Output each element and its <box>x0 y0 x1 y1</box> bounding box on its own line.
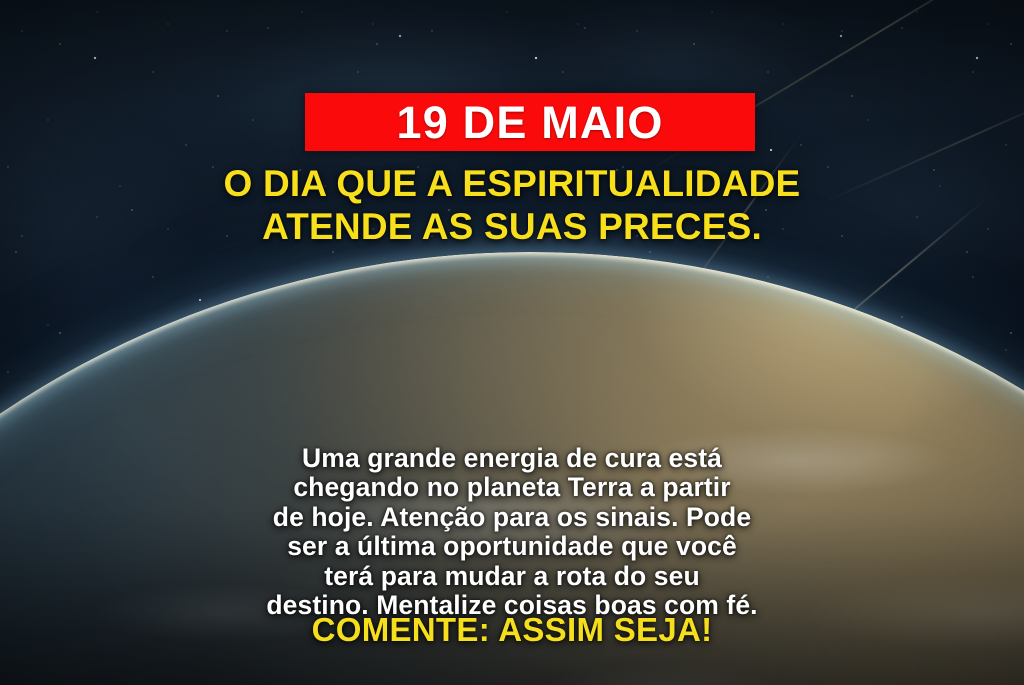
call-to-action-label: COMENTE: ASSIM SEJA! <box>0 613 1024 646</box>
body-copy-line-2: chegando no planeta Terra a partir <box>0 473 1024 502</box>
poster-image: 19 DE MAIO O DIA QUE A ESPIRITUALIDADE A… <box>0 0 1024 685</box>
headline-line-2: ATENDE AS SUAS PRECES. <box>0 206 1024 249</box>
date-banner: 19 DE MAIO <box>305 93 755 151</box>
body-copy: Uma grande energia de cura está chegando… <box>0 444 1024 620</box>
body-copy-line-5: terá para mudar a rota do seu <box>0 562 1024 591</box>
body-copy-line-3: de hoje. Atenção para os sinais. Pode <box>0 503 1024 532</box>
poster-content: 19 DE MAIO O DIA QUE A ESPIRITUALIDADE A… <box>0 0 1024 685</box>
headline-line-1: O DIA QUE A ESPIRITUALIDADE <box>0 163 1024 206</box>
date-banner-label: 19 DE MAIO <box>396 100 663 145</box>
headline: O DIA QUE A ESPIRITUALIDADE ATENDE AS SU… <box>0 163 1024 249</box>
body-copy-line-4: ser a última oportunidade que você <box>0 532 1024 561</box>
body-copy-line-1: Uma grande energia de cura está <box>0 444 1024 473</box>
